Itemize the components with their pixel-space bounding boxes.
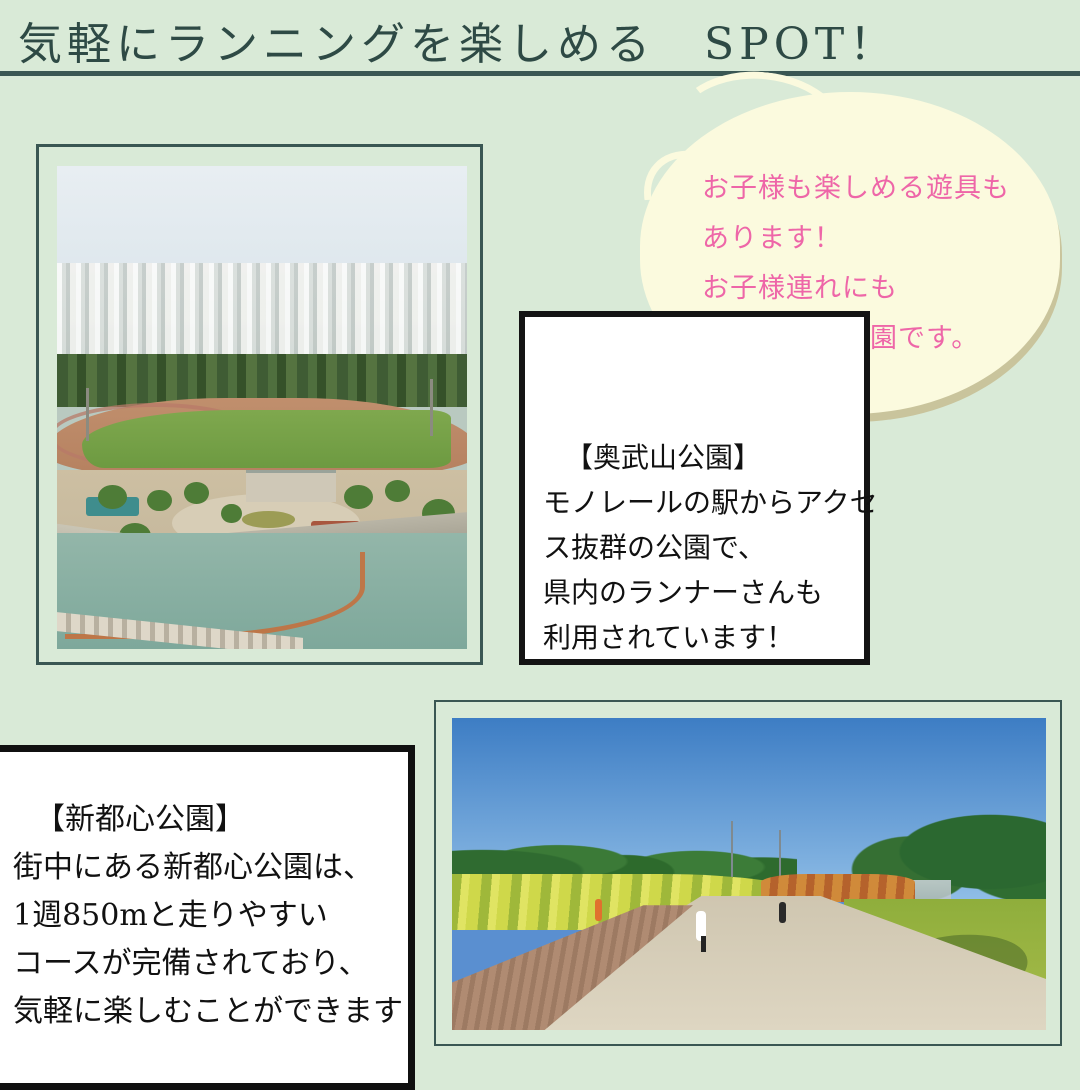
okunoyama-line: モノレールの駅からアクセ [543, 486, 878, 519]
runner-legs [701, 936, 706, 952]
cityscape-region [57, 263, 467, 369]
park-building [246, 470, 336, 502]
page-title: 気軽にランニングを楽しめる SPOT！ [18, 8, 898, 72]
shintoshin-line: 街中にある新都心公園は、 [13, 850, 373, 885]
okunoyama-line: ス抜群の公園で、 [543, 531, 766, 564]
okunoyama-line: 県内のランナーさんも [543, 576, 823, 609]
park-tree [147, 490, 172, 512]
park-tree [184, 482, 209, 504]
park-tree [344, 485, 373, 509]
shintoshin-text-block: 【新都心公園】 街中にある新都心公園は、 1週850mと走りやすい コースが完備… [13, 796, 433, 1036]
light-pole [86, 388, 89, 441]
okunoyama-heading: 【奥武山公園】 [543, 435, 883, 480]
bubble-line: お子様も楽しめる遊具も [702, 164, 1044, 214]
photo-frame-aerial [36, 144, 483, 665]
okunoyama-text-block: 【奥武山公園】 モノレールの駅からアクセ ス抜群の公園で、 県内のランナーさんも… [543, 435, 883, 660]
bubble-line: あります！ [702, 214, 1044, 264]
title-underline-rule [0, 71, 1080, 76]
shintoshin-line: 気軽に楽しむことができます！ [13, 994, 433, 1029]
light-pole [430, 379, 433, 437]
shintoshin-line: 1週850mと走りやすい [13, 898, 328, 933]
photo-frame-running-path [434, 700, 1062, 1046]
park-tree [221, 504, 242, 523]
info-box-shintoshin: 【新都心公園】 街中にある新都心公園は、 1週850mと走りやすい コースが完備… [0, 745, 415, 1090]
shintoshin-heading: 【新都心公園】 [13, 796, 433, 844]
sports-field [82, 410, 451, 468]
photo-running-path [452, 718, 1046, 1030]
okunoyama-line: 利用されています！ [543, 621, 794, 654]
poster-canvas: 気軽にランニングを楽しめる SPOT！ [0, 0, 1080, 1080]
park-tree [98, 485, 127, 509]
shintoshin-line: コースが完備されており、 [13, 946, 369, 981]
photo-aerial-park [57, 166, 467, 649]
bubble-line: お子様連れにも [702, 264, 1044, 314]
park-tree [385, 480, 410, 502]
runner-dark [779, 902, 786, 923]
pedestrian-orange [595, 899, 602, 921]
info-box-okunoyama: 【奥武山公園】 モノレールの駅からアクセ ス抜群の公園で、 県内のランナーさんも… [519, 311, 870, 665]
